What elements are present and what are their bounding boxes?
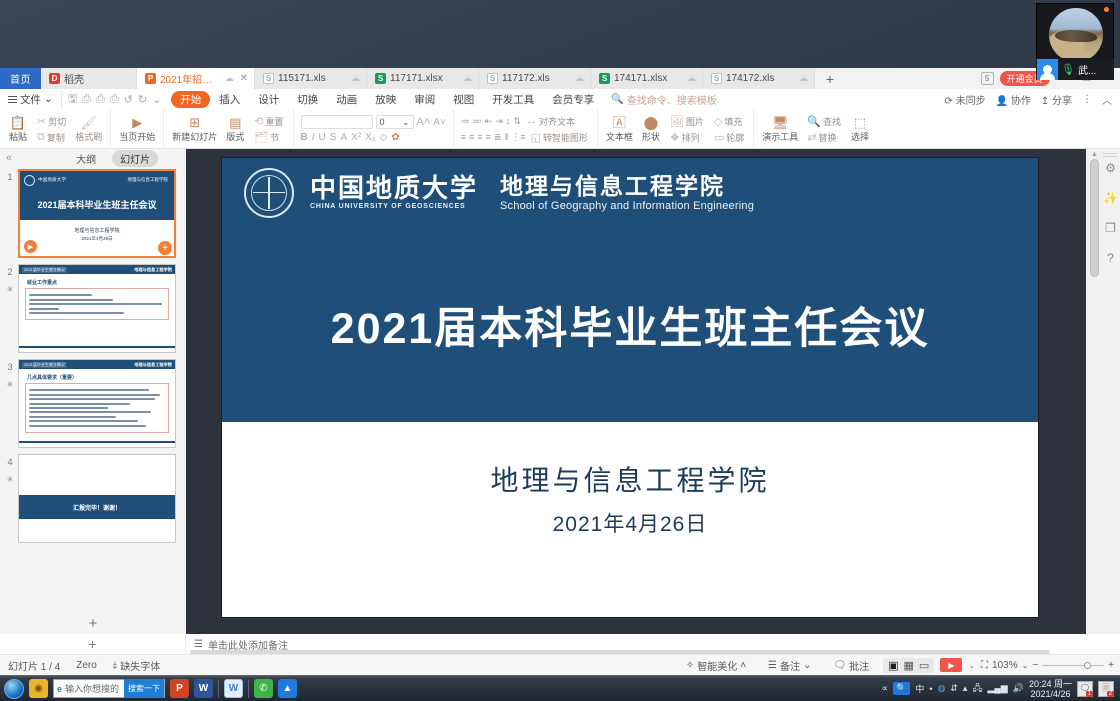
fill-button[interactable]: ◇ 填充 bbox=[712, 115, 746, 128]
chevron-down-icon: ⌄ bbox=[402, 117, 410, 128]
beautify-icon: ✧ bbox=[686, 660, 694, 671]
slide-thumbnail-1[interactable]: 中国地质大学 地理与信息工程学院 2021届本科毕业生班主任会议 地理与信息工程… bbox=[18, 169, 176, 258]
slide-sorter-icon[interactable]: ▦ bbox=[904, 659, 914, 672]
slide-subtitle-area: 地理与信息工程学院 2021年4月26日 bbox=[222, 422, 1038, 617]
paste-label: 粘贴 bbox=[9, 130, 27, 143]
presentation-tools-button[interactable]: 🖥 演示工具 bbox=[759, 116, 801, 143]
zoom-control: ⛶ 103% ⌄ − + bbox=[981, 660, 1114, 671]
align-text-button[interactable]: ↔ 对齐文本 bbox=[524, 115, 577, 128]
reset-button[interactable]: ⟲ 重置 bbox=[252, 115, 285, 128]
ime-dot-icon[interactable]: • bbox=[929, 684, 932, 694]
quick-access-toolbar: 🖫 ⎙ ⎙ ⎙ ↺ ↻ ⌄ bbox=[61, 90, 167, 109]
comment-icon: 🗨 bbox=[833, 660, 846, 671]
thumbnail-row: 4 ✳ 汇报完毕！谢谢！ bbox=[0, 454, 186, 543]
smartart-label: 转智能图形 bbox=[543, 131, 588, 144]
replace-label: 替换 bbox=[819, 131, 837, 144]
rail-icons: ⚙ ✨ ❐ ? bbox=[1103, 161, 1118, 265]
shape-icon: ⬤ bbox=[644, 116, 659, 129]
slide-header: 中国地质大学 CHINA UNIVERSITY OF GEOSCIENCES 地… bbox=[222, 158, 1038, 227]
notes-toggle-button[interactable]: ☰ 备注 ⌄ bbox=[760, 658, 819, 673]
strikethrough-button[interactable]: S bbox=[330, 132, 337, 143]
thumb-header-right: 地理与信息工程学院 bbox=[134, 267, 172, 273]
section-button[interactable]: 🗂 节 bbox=[252, 131, 285, 144]
align-left-icon[interactable]: ≡ bbox=[461, 132, 466, 142]
underline-button[interactable]: U bbox=[319, 132, 326, 143]
browser-tray-icon[interactable]: ◍ bbox=[938, 683, 946, 694]
paste-icon: 📋 bbox=[10, 116, 26, 129]
clear-format-icon[interactable]: ◇ bbox=[380, 132, 388, 143]
powerpoint-taskbar-icon[interactable]: P bbox=[170, 679, 189, 698]
command-search[interactable]: 🔍 查找命令、搜索模板 bbox=[611, 92, 716, 107]
ribbon-tab-review[interactable]: 审阅 bbox=[405, 91, 444, 108]
tab-174171[interactable]: S 174171.xlsx ☁ bbox=[591, 68, 703, 89]
thumb-subtitle: 就业工作重点 bbox=[19, 274, 175, 288]
outline-label: 轮廓 bbox=[726, 131, 744, 144]
cloud-icon: ☁ bbox=[575, 73, 584, 84]
ribbon-tabs: 开始 插入 设计 切换 动画 放映 审阅 视图 开发工具 会员专享 bbox=[171, 91, 603, 108]
command-search-placeholder: 查找命令、搜索模板 bbox=[627, 92, 717, 107]
tab-slides[interactable]: 幻灯片 bbox=[112, 150, 158, 167]
picture-label: 图片 bbox=[686, 115, 704, 128]
textbox-label: 文本框 bbox=[606, 130, 633, 143]
superscript-button[interactable]: X² bbox=[351, 132, 361, 143]
missing-font-status[interactable]: ⤈ 缺失字体 bbox=[105, 658, 168, 673]
navigator-footer: + bbox=[0, 612, 186, 634]
plus-icon: + bbox=[88, 636, 96, 652]
reading-view-icon[interactable]: ▭ bbox=[919, 659, 929, 672]
tab-117171[interactable]: S 117171.xlsx ☁ bbox=[367, 68, 479, 89]
cloud-icon: ☁ bbox=[799, 73, 808, 84]
notification-icon-2[interactable]: 🗏 2 bbox=[1098, 681, 1114, 697]
sync-label: 未同步 bbox=[956, 96, 986, 107]
print-preview-icon[interactable]: ⎙ bbox=[82, 93, 91, 106]
slide-subtitle: 地理与信息工程学院 bbox=[490, 459, 769, 499]
tab-117172[interactable]: S 117172.xls ☁ bbox=[479, 68, 591, 89]
ribbon-tab-developer[interactable]: 开发工具 bbox=[483, 91, 543, 108]
zoom-in-button[interactable]: + bbox=[1108, 660, 1114, 671]
school-name-en: School of Geography and Information Engi… bbox=[500, 200, 754, 212]
share-icon: ↥ bbox=[1041, 96, 1049, 107]
beautify-button[interactable]: ✧ 智能美化 ˄ bbox=[678, 658, 754, 673]
volume-icon[interactable]: 🔊 bbox=[1013, 683, 1024, 694]
collapse-ribbon-icon[interactable]: ︿ bbox=[1102, 92, 1112, 107]
font-warning-icon: ⤈ bbox=[113, 660, 117, 671]
sync-status[interactable]: ⟳ 未同步 bbox=[944, 92, 985, 107]
clock-time: 20:24 周一 bbox=[1029, 679, 1072, 689]
view-buttons: ▣ ▦ ▭ bbox=[883, 658, 934, 673]
clock-time-value: 20:24 bbox=[1029, 679, 1052, 689]
presentation-tools-label: 演示工具 bbox=[762, 130, 798, 143]
ribbon-tab-transition[interactable]: 切换 bbox=[288, 91, 327, 108]
xls-light-icon: S bbox=[711, 73, 722, 84]
search-icon: 🔍 bbox=[807, 115, 821, 128]
find-button[interactable]: 🔍 查找 bbox=[805, 115, 843, 128]
notes-icon: ☰ bbox=[768, 660, 777, 671]
notification-icon-1[interactable]: 🗨 1 bbox=[1077, 681, 1093, 697]
fill-label: 填充 bbox=[724, 115, 742, 128]
format-painter-button[interactable]: 🖌 格式刷 bbox=[72, 116, 105, 143]
arrange-label: 排列 bbox=[682, 131, 700, 144]
status-right: ✧ 智能美化 ˄ ☰ 备注 ⌄ 🗨 批注 ▣ ▦ ▭ ▶ ⌄ ⛶ 10 bbox=[678, 658, 1120, 673]
play-slideshow-button[interactable]: ▶ bbox=[940, 658, 962, 672]
share-button[interactable]: ↥ 分享 bbox=[1041, 92, 1072, 107]
ribbon-group-font: 0 ⌄ A˄ A˅ B I U S A X² X₂ ◇ ✿ bbox=[294, 109, 454, 149]
copy-icon: ⧉ bbox=[37, 131, 45, 144]
tab-label: 174171.xlsx bbox=[614, 73, 667, 84]
thumb-subtitle: 几点具体要求（重要） bbox=[19, 369, 175, 383]
close-icon[interactable]: ✕ bbox=[238, 73, 248, 84]
slide-thumbnail-2[interactable]: 2021届毕业生就业情况 地理与信息工程学院 就业工作重点 bbox=[18, 264, 176, 353]
arrange-button[interactable]: ❖ 排列 bbox=[668, 131, 706, 144]
thumb-subtitle: 地理与信息工程学院 bbox=[74, 227, 119, 234]
thumbnail-row: 2 ✳ 2021届毕业生就业情况 地理与信息工程学院 就业工作重点 bbox=[0, 264, 186, 353]
bold-button[interactable]: B bbox=[301, 132, 308, 143]
find-label: 查找 bbox=[823, 115, 841, 128]
taskbar-divider bbox=[248, 680, 249, 698]
font-size-value: 0 bbox=[380, 117, 385, 127]
slide-number: 1 bbox=[2, 169, 18, 183]
ribbon-tab-design[interactable]: 设计 bbox=[249, 91, 288, 108]
new-tab-button[interactable]: + bbox=[815, 68, 845, 89]
picture-icon: 🖼 bbox=[670, 115, 684, 128]
chevron-up-icon: ˄ bbox=[740, 660, 746, 671]
increase-indent-icon[interactable]: ⇥ bbox=[495, 116, 503, 127]
copy-button[interactable]: ⧉ 复制 bbox=[35, 131, 68, 144]
duplicate-icon[interactable]: ❐ bbox=[1105, 221, 1116, 235]
thumbnail-row: 3 ✳ 2021届毕业生就业情况 地理与信息工程学院 几点具体要求（重要） bbox=[0, 359, 186, 448]
distribute-icon[interactable]: ≣ bbox=[494, 132, 502, 143]
slide-thumbnail-list[interactable]: 1 中国地质大学 地理与信息工程学院 2021届本科毕业生班主任会议 地理与信息… bbox=[0, 167, 186, 612]
reset-label: 重置 bbox=[266, 115, 284, 128]
collab-button[interactable]: 👤 协作 bbox=[996, 92, 1031, 107]
start-label: 当页开始 bbox=[119, 130, 155, 143]
tab-label: 115171.xls bbox=[278, 73, 326, 84]
university-seal-icon bbox=[244, 168, 294, 218]
share-label: 分享 bbox=[1052, 96, 1072, 107]
theme-name[interactable]: Zero bbox=[68, 660, 105, 671]
fill-icon: ◇ bbox=[714, 115, 722, 128]
university-name-en: CHINA UNIVERSITY OF GEOSCIENCES bbox=[310, 203, 478, 210]
play-circle-icon: ▶ bbox=[132, 116, 142, 129]
tab-label: 稻壳 bbox=[64, 71, 84, 86]
animation-marker-icon: ✳ bbox=[2, 284, 18, 296]
italic-button[interactable]: I bbox=[312, 132, 315, 143]
outline-button[interactable]: ▭ 轮廓 bbox=[712, 131, 746, 144]
thumb-header-right: 地理与信息工程学院 bbox=[128, 177, 171, 183]
cloud-icon: ☁ bbox=[687, 73, 696, 84]
search-icon: 🔍 bbox=[611, 94, 623, 105]
meeting-participant-label[interactable]: 🎙 武... bbox=[1036, 58, 1114, 80]
person-icon bbox=[1037, 59, 1058, 80]
right-rail: ▲ ⚙ ✨ ❐ ? bbox=[1086, 149, 1120, 634]
zoom-slider-knob[interactable] bbox=[1084, 662, 1091, 669]
cut-label: 剪切 bbox=[48, 115, 66, 128]
xls-light-icon: S bbox=[263, 73, 274, 84]
cloud-icon: ☁ bbox=[351, 73, 360, 84]
thumb-title: 2021届本科毕业生班主任会议 bbox=[37, 198, 156, 211]
scroll-up-icon[interactable]: ▲ bbox=[1091, 151, 1098, 158]
xls-light-icon: S bbox=[487, 73, 498, 84]
file-menu-button[interactable]: 文件 ⌄ bbox=[0, 92, 61, 107]
tab-label: 117172.xls bbox=[502, 73, 550, 84]
convert-smartart-button[interactable]: ◱ 转智能图形 bbox=[528, 131, 589, 144]
smartart-icon: ◱ bbox=[530, 131, 540, 144]
rail-divider bbox=[1103, 151, 1117, 159]
slide-surface[interactable]: 中国地质大学 CHINA UNIVERSITY OF GEOSCIENCES 地… bbox=[222, 158, 1038, 617]
replace-button[interactable]: ⇄ 替换 bbox=[805, 131, 843, 144]
align-text-label: 对齐文本 bbox=[539, 115, 575, 128]
chevron-down-icon: ⌄ bbox=[44, 93, 53, 105]
mic-on-icon[interactable]: 🎙 bbox=[1061, 63, 1075, 76]
xls-icon: S bbox=[375, 73, 386, 84]
zoom-out-button[interactable]: − bbox=[1032, 660, 1038, 671]
missing-font-label: 缺失字体 bbox=[120, 658, 160, 673]
screen: 首页 D 稻壳 P 2021年招生就业...2021.4.22 ☁ ✕ S 11… bbox=[0, 0, 1120, 701]
tab-outline[interactable]: 大纲 bbox=[68, 150, 104, 167]
collab-label: 协作 bbox=[1011, 96, 1031, 107]
picture-button[interactable]: 🖼 图片 bbox=[668, 115, 706, 128]
thumb-header-left: 2021届毕业生就业情况 bbox=[22, 362, 67, 368]
edge-icon: e bbox=[57, 684, 62, 694]
font-size-input[interactable]: 0 ⌄ bbox=[376, 115, 414, 129]
participant-name: 武... bbox=[1078, 62, 1096, 77]
print-icon[interactable]: ⎙ bbox=[96, 93, 105, 106]
navigator-header: « 大纲 幻灯片 bbox=[0, 149, 186, 167]
ribbon-tab-start[interactable]: 开始 bbox=[171, 91, 210, 108]
new-slide-label: 新建幻灯片 bbox=[172, 130, 217, 143]
select-label: 选择 bbox=[851, 130, 869, 143]
quickprint-icon[interactable]: ⎙ bbox=[110, 93, 119, 106]
file-menu-label: 文件 bbox=[20, 92, 41, 107]
help-icon[interactable]: ? bbox=[1107, 251, 1114, 265]
university-name-cn: 中国地质大学 bbox=[310, 175, 478, 202]
xls-icon: S bbox=[599, 73, 610, 84]
notes-add-slide[interactable]: + bbox=[0, 634, 186, 654]
workspace: « 大纲 幻灯片 1 中国地质大学 地理与信息工程学院 2021届本 bbox=[0, 149, 1120, 634]
thumb-date: 2021年4月26日 bbox=[81, 236, 112, 242]
new-slide-icon: ⊞ bbox=[189, 116, 200, 129]
slide-counter[interactable]: 幻灯片 1 / 4 bbox=[0, 658, 68, 673]
notes-label: 备注 bbox=[780, 658, 800, 673]
layout-button[interactable]: ▤ 版式 bbox=[222, 116, 248, 143]
grow-font-icon[interactable]: A˄ bbox=[417, 116, 431, 128]
slide-navigator-panel: « 大纲 幻灯片 1 中国地质大学 地理与信息工程学院 2021届本 bbox=[0, 149, 186, 634]
reset-icon: ⟲ bbox=[254, 115, 263, 128]
zoom-dropdown-icon[interactable]: ⌄ bbox=[1022, 661, 1029, 670]
textbox-button[interactable]: 🄰 文本框 bbox=[603, 116, 636, 143]
ribbon-group-play: ▶ 当页开始 bbox=[111, 109, 164, 149]
start-from-current-button[interactable]: ▶ 当页开始 bbox=[116, 116, 158, 143]
format-painter-icon: 🖌 bbox=[80, 116, 97, 129]
justify-icon[interactable]: ≡ bbox=[486, 132, 491, 142]
cloud-icon: ☁ bbox=[225, 73, 234, 84]
align-text-icon: ↔ bbox=[526, 115, 537, 127]
shape-label: 形状 bbox=[642, 130, 660, 143]
columns-icon[interactable]: ⫴ bbox=[504, 132, 508, 143]
line-spacing-icon[interactable]: ↕ bbox=[506, 116, 511, 126]
text-direction-icon[interactable]: ⇅ bbox=[513, 116, 521, 127]
updates-icon[interactable]: ⇵ bbox=[950, 683, 958, 694]
meeting-video-overlay[interactable] bbox=[1036, 3, 1114, 65]
section-icon: 🗂 bbox=[254, 131, 268, 144]
taskbar-search-placeholder: 输入你想搜的 bbox=[65, 682, 119, 695]
font-format-row: B I U S A X² X₂ ◇ ✿ bbox=[301, 132, 446, 143]
paste-button[interactable]: 📋 粘贴 bbox=[5, 116, 31, 143]
university-seal-icon bbox=[24, 175, 35, 186]
slide-number: 4 bbox=[7, 457, 12, 467]
beautify-label: 智能美化 bbox=[697, 658, 737, 673]
ribbon-tab-insert[interactable]: 插入 bbox=[210, 91, 249, 108]
ribbon-group-paragraph: ≔ ≕ ⇤ ⇥ ↕ ⇅ ↔ 对齐文本 ≡ ≡ ≡ ≡ ≣ bbox=[454, 109, 598, 149]
participant-video-thumbnail bbox=[1049, 8, 1103, 62]
subscript-button[interactable]: X₂ bbox=[365, 132, 376, 143]
ribbon-toolbar: 📋 粘贴 ✂ 剪切 ⧉ 复制 🖌 格式刷 ▶ 当 bbox=[0, 109, 1120, 149]
play-dropdown-icon[interactable]: ⌄ bbox=[968, 661, 975, 670]
cloud-icon: ☁ bbox=[463, 73, 472, 84]
tab-presentation-active[interactable]: P 2021年招生就业...2021.4.22 ☁ ✕ bbox=[137, 68, 255, 89]
tab-label: 117171.xlsx bbox=[390, 73, 443, 84]
sync-icon: ⟳ bbox=[944, 96, 952, 107]
system-tray: ∝ 🔍 中 • ◍ ⇵ ▴ 🖧 ▂▄▆ 🔊 20:24 周一 2021/4/26… bbox=[882, 679, 1116, 699]
zoom-level[interactable]: 103% bbox=[992, 660, 1018, 671]
save-icon[interactable]: 🖫 bbox=[68, 90, 77, 109]
bullets-icon[interactable]: ≔ bbox=[461, 116, 470, 127]
new-slide-button[interactable]: ⊞ 新建幻灯片 bbox=[169, 116, 220, 143]
align-center-icon[interactable]: ≡ bbox=[469, 132, 474, 142]
notification-badge: 1 bbox=[1086, 691, 1093, 697]
tab-count-badge[interactable]: 5 bbox=[981, 72, 994, 85]
animation-marker-icon: ✳ bbox=[2, 379, 18, 391]
tab-home[interactable]: 首页 bbox=[0, 68, 41, 89]
select-icon: ⬚ bbox=[854, 116, 866, 129]
slide-canvas[interactable]: 中国地质大学 CHINA UNIVERSITY OF GEOSCIENCES 地… bbox=[186, 149, 1086, 634]
slide-number: 3 bbox=[7, 362, 12, 372]
recording-dot-icon bbox=[1104, 7, 1109, 12]
tab-label: 174172.xls bbox=[726, 73, 774, 84]
outline-icon: ▭ bbox=[714, 131, 724, 144]
customize-qat-icon[interactable]: ⌄ bbox=[152, 93, 161, 106]
collapse-panel-icon[interactable]: « bbox=[6, 152, 12, 164]
slide-thumbnail-4[interactable]: 汇报完毕！谢谢！ bbox=[18, 454, 176, 543]
status-bar: 幻灯片 1 / 4 Zero ⤈ 缺失字体 ✧ 智能美化 ˄ ☰ 备注 ⌄ 🗨 … bbox=[0, 654, 1120, 675]
slide-number: 2 bbox=[7, 267, 12, 277]
thumb-header-left: 中国地质大学 bbox=[38, 177, 66, 183]
cx-icon[interactable]: ∝ bbox=[882, 683, 888, 694]
undo-icon[interactable]: ↺ bbox=[124, 93, 133, 106]
fit-slide-icon[interactable]: ⛶ bbox=[981, 660, 988, 671]
thumb-content-box bbox=[25, 288, 169, 320]
windows-taskbar: ◉ e 输入你想搜的 搜索一下 P W W ✆ ▲ ∝ 🔍 中 • ◍ ⇵ ▴ … bbox=[0, 675, 1120, 701]
meeting-taskbar-icon[interactable]: ▲ bbox=[278, 679, 297, 698]
list-level-icon[interactable]: ⋮≡ bbox=[511, 132, 525, 143]
format-painter-label: 格式刷 bbox=[75, 130, 102, 143]
more-options-icon[interactable]: ⋮ bbox=[1082, 94, 1092, 105]
section-label: 节 bbox=[270, 131, 279, 144]
notes-icon: ☰ bbox=[194, 639, 203, 650]
text-effect-icon[interactable]: ✿ bbox=[391, 132, 399, 143]
normal-view-icon[interactable]: ▣ bbox=[888, 659, 898, 672]
taskbar-search[interactable]: e 输入你想搜的 搜索一下 bbox=[53, 679, 165, 698]
taskbar-divider bbox=[218, 680, 219, 698]
numbering-icon[interactable]: ≕ bbox=[473, 116, 482, 127]
tab-174172[interactable]: S 174172.xls ☁ bbox=[703, 68, 815, 89]
ribbon-group-slides: ⊞ 新建幻灯片 ▤ 版式 ⟲ 重置 🗂 节 bbox=[164, 109, 293, 149]
align-right-icon[interactable]: ≡ bbox=[477, 132, 482, 142]
thumb-banner: 汇报完毕！谢谢！ bbox=[73, 503, 121, 512]
shape-button[interactable]: ⬤ 形状 bbox=[638, 116, 664, 143]
signal-icon[interactable]: ▂▄▆ bbox=[987, 683, 1007, 694]
menu-bar: 文件 ⌄ 🖫 ⎙ ⎙ ⎙ ↺ ↻ ⌄ 开始 插入 设计 切换 动画 放映 审阅 … bbox=[0, 89, 1120, 109]
ribbon-tab-slideshow[interactable]: 放映 bbox=[366, 91, 405, 108]
ribbon-tab-animation[interactable]: 动画 bbox=[327, 91, 366, 108]
play-icon[interactable]: ▶ bbox=[24, 240, 37, 253]
layout-icon: ▤ bbox=[229, 116, 241, 129]
windows-orb-icon[interactable] bbox=[4, 679, 24, 699]
pdf-icon: D bbox=[49, 73, 60, 84]
notification-badge: 2 bbox=[1107, 691, 1114, 697]
slide-thumbnail-3[interactable]: 2021届毕业生就业情况 地理与信息工程学院 几点具体要求（重要） bbox=[18, 359, 176, 448]
thumbnail-row: 1 中国地质大学 地理与信息工程学院 2021届本科毕业生班主任会议 地理与信息… bbox=[0, 169, 186, 258]
school-name-cn: 地理与信息工程学院 bbox=[500, 173, 754, 199]
taskbar-search-button[interactable]: 搜索一下 bbox=[124, 679, 164, 698]
adjust-icon[interactable]: ⚙ bbox=[1105, 161, 1116, 175]
copy-label: 复制 bbox=[47, 131, 65, 144]
ribbon-tab-member[interactable]: 会员专享 bbox=[543, 91, 603, 108]
chevron-down-icon: ⌄ bbox=[803, 660, 811, 671]
ribbon-group-drawing: 🄰 文本框 ⬤ 形状 🖼 图片 ❖ 排列 ◇ 填充 bbox=[598, 109, 754, 149]
cut-button[interactable]: ✂ 剪切 bbox=[35, 115, 68, 128]
wps-taskbar-icon[interactable]: W bbox=[224, 679, 243, 698]
wechat-taskbar-icon[interactable]: ✆ bbox=[254, 679, 273, 698]
slide-title-band: 2021届本科毕业生班主任会议 bbox=[222, 227, 1038, 422]
ribbon-group-clipboard: 📋 粘贴 ✂ 剪切 ⧉ 复制 🖌 格式刷 bbox=[0, 109, 111, 149]
font-color-button[interactable]: A bbox=[340, 132, 347, 143]
plus-icon[interactable]: + bbox=[158, 241, 172, 255]
presentation-tools-icon: 🖥 bbox=[772, 116, 789, 129]
arrange-icon: ❖ bbox=[670, 131, 680, 144]
comments-button[interactable]: 🗨 批注 bbox=[825, 658, 877, 673]
word-taskbar-icon[interactable]: W bbox=[194, 679, 213, 698]
thumb-header-left: 2021届毕业生就业情况 bbox=[22, 267, 67, 273]
vertical-scrollbar[interactable] bbox=[1090, 159, 1099, 277]
font-name-input[interactable] bbox=[301, 115, 373, 129]
zoom-slider[interactable] bbox=[1042, 665, 1104, 666]
hamburger-icon bbox=[8, 94, 17, 105]
decrease-indent-icon[interactable]: ⇤ bbox=[485, 116, 493, 127]
ime-cn-icon[interactable]: 中 bbox=[915, 682, 924, 695]
add-slide-button[interactable]: + bbox=[89, 615, 98, 632]
tab-115171[interactable]: S 115171.xls ☁ bbox=[255, 68, 367, 89]
redo-icon[interactable]: ↻ bbox=[138, 93, 147, 106]
ribbon-group-tools: 🖥 演示工具 🔍 查找 ⇄ 替换 ⬚ 选择 bbox=[754, 109, 878, 149]
comments-label: 批注 bbox=[849, 658, 869, 673]
search-tray-icon[interactable]: 🔍 bbox=[893, 682, 910, 695]
shrink-font-icon[interactable]: A˅ bbox=[433, 117, 446, 128]
layout-label: 版式 bbox=[226, 130, 244, 143]
ribbon-tab-view[interactable]: 视图 bbox=[444, 91, 483, 108]
notes-bar: + ☰ 单击此处添加备注 bbox=[0, 634, 1120, 654]
slide-date: 2021年4月26日 bbox=[553, 508, 708, 538]
thumb-content-box bbox=[25, 383, 169, 433]
network-error-icon[interactable]: 🖧 bbox=[972, 681, 982, 697]
tab-docer[interactable]: D 稻壳 bbox=[41, 68, 137, 89]
select-button[interactable]: ⬚ 选择 bbox=[847, 116, 873, 143]
animation-icon[interactable]: ✨ bbox=[1103, 191, 1118, 205]
document-tab-strip: 首页 D 稻壳 P 2021年招生就业...2021.4.22 ☁ ✕ S 11… bbox=[0, 68, 1120, 89]
tray-clock[interactable]: 20:24 周一 2021/4/26 bbox=[1029, 679, 1072, 699]
security-icon[interactable]: ◉ bbox=[29, 679, 48, 698]
tray-expand-icon[interactable]: ▴ bbox=[963, 683, 968, 694]
